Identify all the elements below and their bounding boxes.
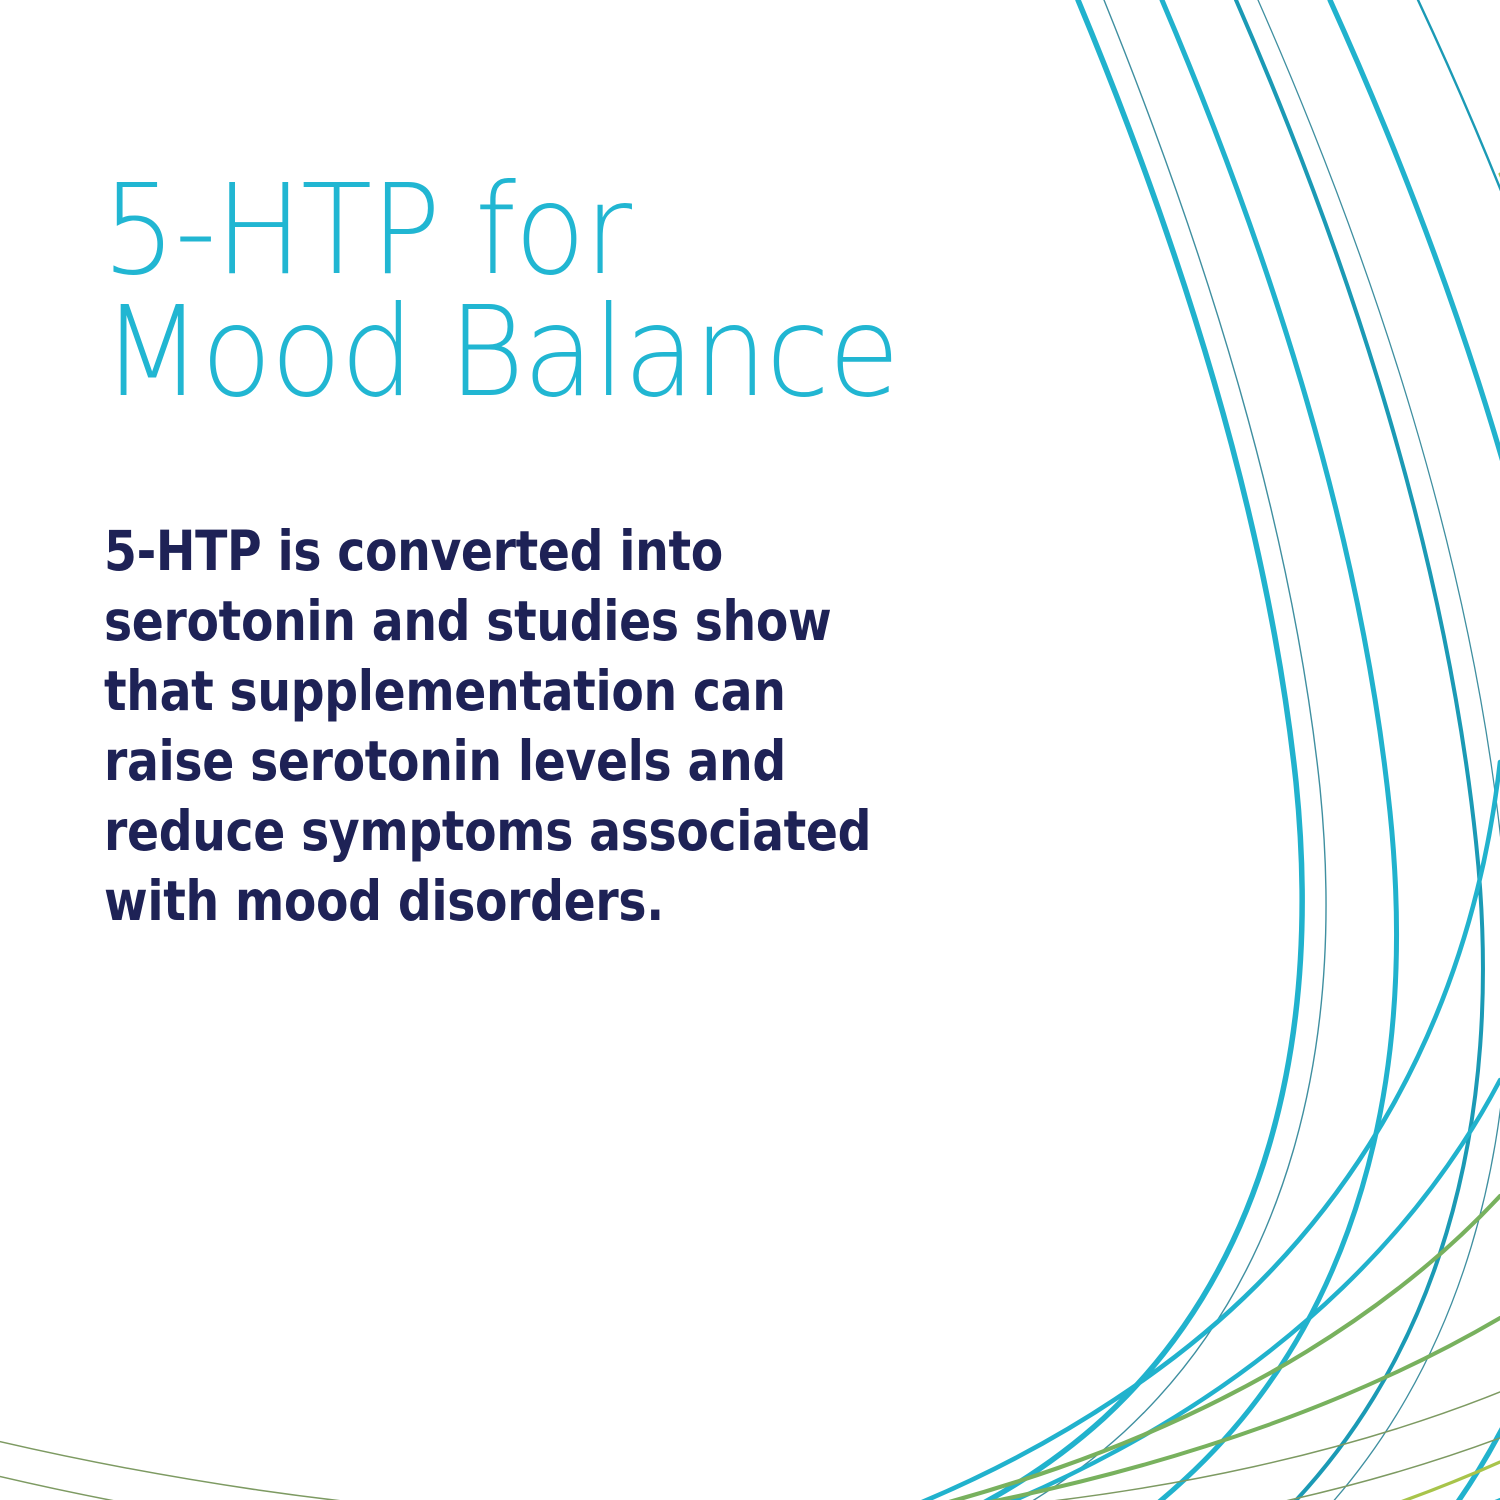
text-content: 5-HTP for Mood Balance 5-HTP is converte… [0,0,1500,1500]
poster-canvas: 5-HTP for Mood Balance 5-HTP is converte… [0,0,1500,1500]
page-title: 5-HTP for Mood Balance [102,170,995,415]
body-paragraph: 5-HTP is converted into serotonin and st… [104,517,878,937]
